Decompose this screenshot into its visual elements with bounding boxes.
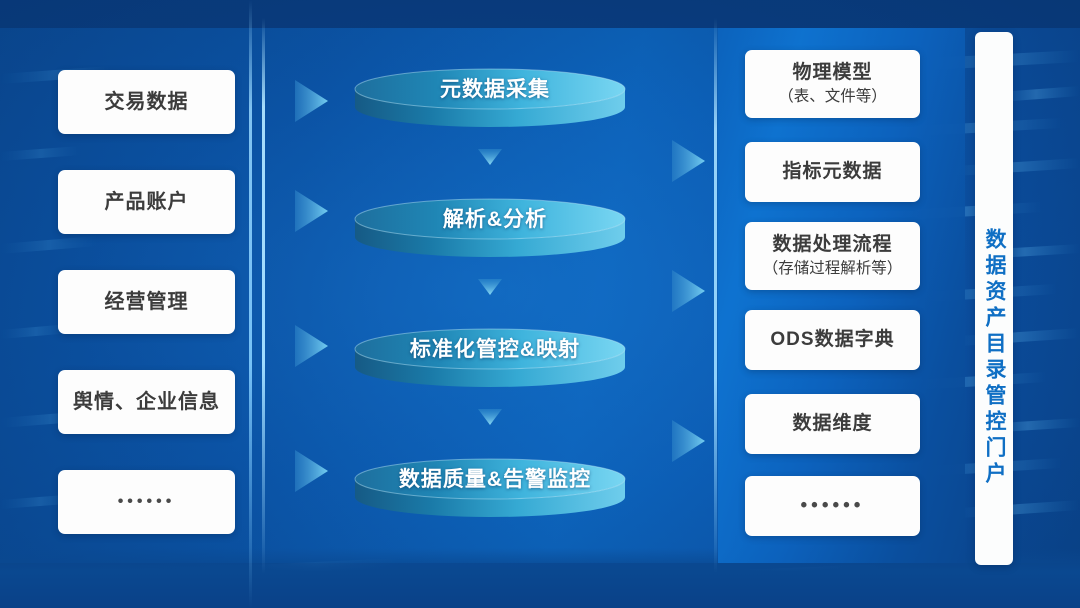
card-label-primary: 数据维度 (792, 412, 872, 436)
process-step-label: 数据质量&告警监控 (340, 463, 650, 493)
column-divider-left (262, 18, 265, 574)
list-item[interactable]: 经营管理 (58, 270, 235, 334)
arrow-right-icon (672, 420, 705, 462)
arrow-right-icon (295, 325, 328, 367)
arrow-right-icon (295, 450, 328, 492)
process-step-label: 解析&分析 (340, 203, 650, 233)
list-item[interactable]: •••••• (745, 476, 920, 536)
arrow-right-icon (672, 270, 705, 312)
list-item[interactable]: •••••• (58, 470, 235, 534)
card-label-primary: ODS数据字典 (770, 328, 894, 352)
card-label-primary: 经营管理 (105, 290, 189, 315)
card-label-primary: 舆情、企业信息 (73, 390, 220, 415)
arrow-right-icon (672, 140, 705, 182)
arrow-right-icon (295, 80, 328, 122)
card-label-primary: 指标元数据 (782, 160, 882, 184)
card-label-primary: •••••• (801, 494, 865, 518)
list-item[interactable]: 数据维度 (745, 394, 920, 454)
card-label-primary: 交易数据 (105, 90, 189, 115)
card-label-secondary: （表、文件等） (778, 87, 887, 106)
arrow-right-icon (295, 190, 328, 232)
card-label-primary: 物理模型 (792, 61, 872, 85)
card-label-primary: •••••• (118, 492, 176, 512)
card-label-secondary: （存储过程解析等） (763, 259, 903, 278)
panel-left-shine (249, 0, 252, 608)
portal-label: 数据资产目录管控门户 (979, 228, 1009, 488)
list-item[interactable]: 产品账户 (58, 170, 235, 234)
list-item[interactable]: 交易数据 (58, 70, 235, 134)
card-label-primary: 数据处理流程 (772, 233, 892, 257)
diagram-canvas: 交易数据 产品账户 经营管理 舆情、企业信息 •••••• (0, 0, 1080, 608)
portal-vertical-card[interactable]: 数据资产目录管控门户 (975, 32, 1013, 565)
process-step-label: 标准化管控&映射 (340, 333, 650, 363)
arrow-down-icon (478, 409, 502, 425)
card-label-primary: 产品账户 (105, 190, 189, 215)
arrows-left-to-middle (295, 0, 345, 608)
list-item[interactable]: ODS数据字典 (745, 310, 920, 370)
arrow-down-icon (478, 149, 502, 165)
arrow-down-icon (478, 279, 502, 295)
list-item[interactable]: 数据处理流程 （存储过程解析等） (745, 222, 920, 290)
list-item[interactable]: 物理模型 （表、文件等） (745, 50, 920, 118)
right-column-edge-shine (714, 18, 717, 573)
process-step-label: 元数据采集 (340, 73, 650, 103)
list-item[interactable]: 舆情、企业信息 (58, 370, 235, 434)
list-item[interactable]: 指标元数据 (745, 142, 920, 202)
